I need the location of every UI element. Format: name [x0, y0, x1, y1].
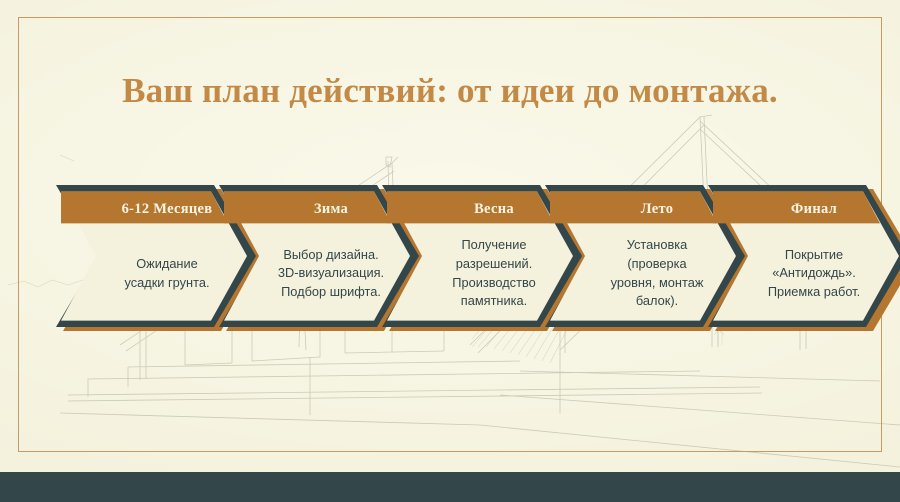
process-flow: 6-12 Месяцев Ожидание усадки грунта. Зим… [56, 185, 848, 327]
step-body-text: Выбор дизайна. 3D-визуализация. Подбор ш… [272, 228, 390, 327]
page-title: Ваш план действий: от идеи до монтажа. [0, 71, 900, 111]
step-body-text: Получение разрешений. Производство памят… [446, 228, 541, 327]
flow-step-5[interactable]: Финал Покрытие «Антидождь». Приемка рабо… [708, 185, 900, 327]
slide-canvas: Ваш план действий: от идеи до монтажа. 6… [0, 0, 900, 502]
step-header-label: Зима [314, 190, 348, 228]
step-header-label: Финал [791, 190, 837, 228]
step-content: Финал Покрытие «Антидождь». Приемка рабо… [708, 185, 900, 327]
step-body-text: Покрытие «Антидождь». Приемка работ. [762, 228, 866, 327]
step-body-text: Ожидание усадки грунта. [118, 228, 215, 327]
step-body-text: Установка (проверка уровня, монтаж балок… [605, 228, 710, 327]
step-header-label: Лето [641, 190, 674, 228]
footer-band [0, 472, 900, 502]
step-header-label: Весна [474, 190, 514, 228]
step-header-label: 6-12 Месяцев [122, 190, 213, 228]
